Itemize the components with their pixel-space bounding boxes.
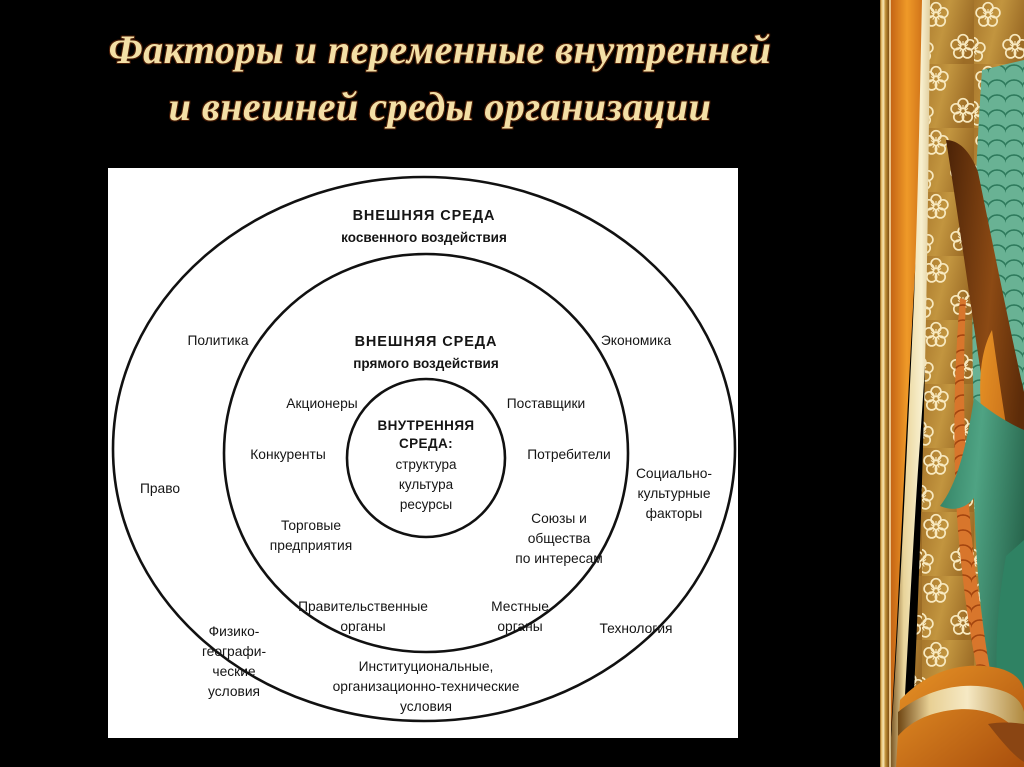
middle-label-local-line-2: органы [497, 619, 542, 634]
middle-label-suppliers: Поставщики [507, 396, 585, 411]
middle-label-consumers: Потребители [527, 447, 611, 462]
border-artwork [870, 0, 1024, 767]
middle-ring-heading: ВНЕШНЯЯ СРЕДА [355, 334, 498, 350]
outer-label-pravo: Право [140, 481, 180, 496]
outer-label-physgeo-line-1: Физико- [209, 624, 260, 639]
middle-label-competitors: Конкуренты [250, 447, 325, 462]
outer-label-institutional-line-1: Институциональные, [359, 659, 494, 674]
middle-label-unions-line-2: общества [528, 531, 591, 546]
outer-ring-heading: ВНЕШНЯЯ СРЕДА [353, 208, 496, 224]
page-title: Факторы и переменные внутренней и внешне… [0, 22, 880, 136]
outer-label-sociocultural-line-1: Социально- [636, 466, 712, 481]
inner-item-structure: структура [395, 457, 457, 472]
inner-item-culture: культура [399, 477, 454, 492]
title-line-1: Факторы и переменные внутренней [0, 22, 880, 79]
slide-canvas: Факторы и переменные внутренней и внешне… [0, 0, 1024, 767]
outer-label-sociocultural-line-3: факторы [646, 506, 703, 521]
middle-label-government-line-1: Правительственные [298, 599, 428, 614]
outer-label-technology: Технология [600, 621, 673, 636]
concentric-circles-diagram: ВНЕШНЯЯ СРЕДА косвенного воздействия ВНЕ… [108, 168, 738, 738]
middle-label-shareholders: Акционеры [286, 396, 357, 411]
middle-label-unions-line-3: по интересам [515, 551, 603, 566]
outer-label-institutional-line-3: условия [400, 699, 452, 714]
outer-label-physgeo-line-2: географи- [202, 644, 266, 659]
outer-label-ekonomika: Экономика [601, 333, 672, 348]
middle-label-trade-line-1: Торговые [281, 518, 341, 533]
ornamental-floral-border [870, 0, 1024, 767]
outer-label-politika: Политика [187, 333, 248, 348]
inner-item-resources: ресурсы [400, 497, 452, 512]
gold-highlight-line [889, 0, 891, 767]
inner-ring-heading-line-1: ВНУТРЕННЯЯ [377, 418, 474, 433]
middle-label-trade-line-2: предприятия [270, 538, 352, 553]
outer-label-institutional-line-2: организационно-технические [333, 679, 520, 694]
outer-ring-subheading: косвенного воздействия [341, 230, 507, 245]
diagram-panel: ВНЕШНЯЯ СРЕДА косвенного воздействия ВНЕ… [108, 168, 738, 738]
middle-label-unions-line-1: Союзы и [531, 511, 587, 526]
gold-rail [880, 0, 889, 767]
outer-label-sociocultural-line-2: культурные [637, 486, 710, 501]
middle-label-local-line-1: Местные [491, 599, 549, 614]
inner-ring-heading-line-2: СРЕДА: [399, 436, 453, 451]
middle-label-government-line-2: органы [340, 619, 385, 634]
outer-label-physgeo-line-3: ческие [212, 664, 256, 679]
outer-label-physgeo-line-4: условия [208, 684, 260, 699]
title-line-2: и внешней среды организации [0, 79, 880, 136]
middle-ring-subheading: прямого воздействия [353, 356, 498, 371]
